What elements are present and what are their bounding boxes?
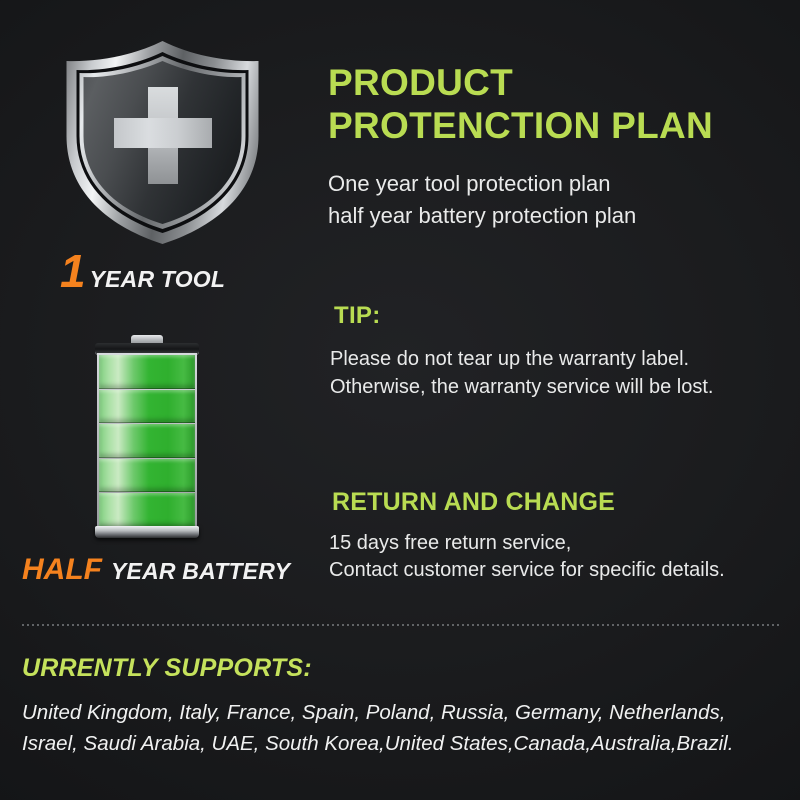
battery-duration-label: YEAR BATTERY (111, 558, 290, 585)
page-subtitle-line-1: One year tool protection plan (328, 168, 798, 200)
return-and-change-body: 15 days free return service, Contact cus… (329, 530, 800, 584)
battery-segment (99, 390, 195, 424)
product-protection-plan-banner: 1 YEAR TOOL HALF YEAR BATTERY PRODUCT PR… (0, 0, 800, 800)
return-and-change-heading: RETURN AND CHANGE (332, 488, 615, 517)
plus-symbol (63, 40, 263, 245)
battery-bottom-rim (95, 526, 199, 538)
page-title: PRODUCT PROTENCTION PLAN (328, 62, 788, 148)
battery-badge (55, 335, 270, 550)
supported-countries-line-1: United Kingdom, Italy, France, Spain, Po… (22, 697, 792, 728)
page-title-line-2: PROTENCTION PLAN (328, 105, 788, 148)
page-subtitle: One year tool protection plan half year … (328, 168, 798, 231)
shield-badge-label: 1 YEAR TOOL (60, 248, 225, 294)
battery-segment (99, 424, 195, 458)
shield-badge (55, 40, 270, 255)
supported-countries-heading: URRENTLY SUPPORTS: (22, 654, 312, 683)
shield-duration-value: 1 (60, 248, 85, 294)
supported-countries-list: United Kingdom, Italy, France, Spain, Po… (22, 697, 792, 759)
battery-segment (99, 493, 195, 526)
battery-badge-label: HALF YEAR BATTERY (22, 555, 290, 585)
battery-charge-segments (99, 355, 195, 526)
battery-segment (99, 459, 195, 493)
page-title-line-1: PRODUCT (328, 62, 788, 105)
supported-countries-line-2: Israel, Saudi Arabia, UAE, South Korea,U… (22, 728, 792, 759)
plus-horizontal-bar (114, 118, 212, 148)
return-body-line-1: 15 days free return service, (329, 530, 800, 557)
tip-body: Please do not tear up the warranty label… (330, 345, 800, 402)
tip-body-line-2: Otherwise, the warranty service will be … (330, 373, 800, 401)
page-subtitle-line-2: half year battery protection plan (328, 200, 798, 232)
return-body-line-2: Contact customer service for specific de… (329, 557, 800, 584)
tip-body-line-1: Please do not tear up the warranty label… (330, 345, 800, 373)
battery-segment (99, 355, 195, 389)
section-divider (22, 624, 780, 626)
battery-duration-value: HALF (22, 555, 102, 585)
shield-duration-label: YEAR TOOL (90, 266, 226, 293)
battery-full-icon (93, 335, 201, 547)
tip-heading: TIP: (334, 302, 381, 330)
shield-plus-icon (63, 40, 263, 245)
